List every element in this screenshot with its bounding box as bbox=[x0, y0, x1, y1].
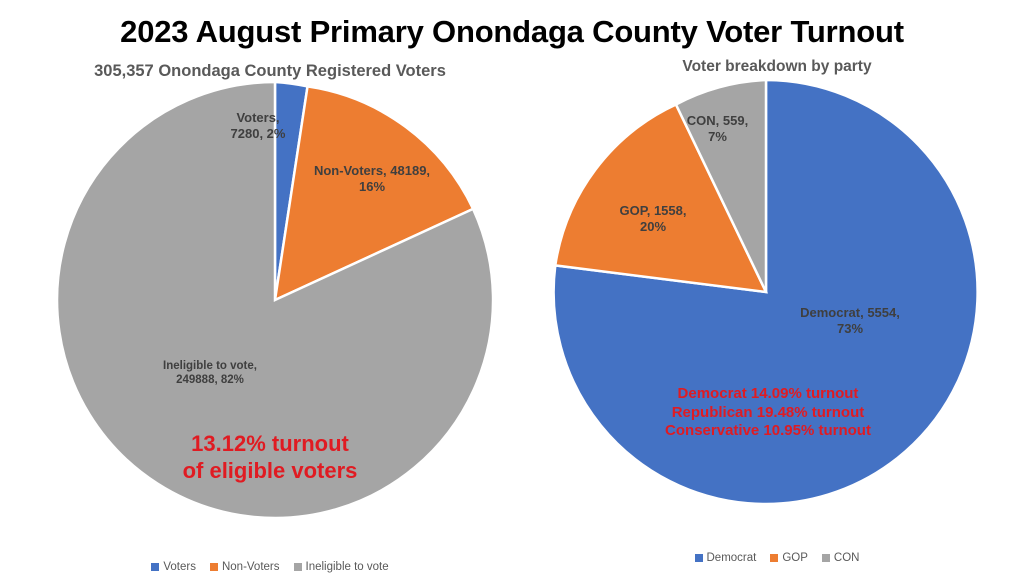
legend-label-gop: GOP bbox=[782, 552, 808, 564]
legend-swatch-democrat-icon bbox=[695, 554, 703, 562]
turnout-callout-left-line2: of eligible voters bbox=[105, 457, 435, 484]
legend-swatch-gop-icon bbox=[770, 554, 778, 562]
legend-item-non-voters[interactable]: Non-Voters bbox=[210, 561, 280, 573]
pie-chart-registered-voters[interactable]: 305,357 Onondaga County Registered Voter… bbox=[10, 55, 530, 576]
legend-label-non-voters: Non-Voters bbox=[222, 561, 280, 573]
pie-slices-voter-breakdown bbox=[530, 55, 1024, 555]
legend-registered-voters: Voters Non-Voters Ineligible to vote bbox=[10, 561, 530, 573]
legend-label-voters: Voters bbox=[163, 561, 196, 573]
turnout-callout-right-line1: Democrat 14.09% turnout bbox=[623, 385, 913, 404]
legend-label-democrat: Democrat bbox=[707, 552, 757, 564]
legend-swatch-ineligible-icon bbox=[294, 563, 302, 571]
legend-item-con[interactable]: CON bbox=[822, 552, 860, 564]
legend-voter-breakdown: Democrat GOP CON bbox=[530, 552, 1024, 564]
turnout-callout-right-line3: Conservative 10.95% turnout bbox=[623, 422, 913, 441]
pie-chart-voter-breakdown[interactable]: Voter breakdown by party CON, 559, 7% GO… bbox=[530, 55, 1024, 576]
slide-canvas: 2023 August Primary Onondaga County Vote… bbox=[0, 0, 1024, 576]
turnout-callout-right: Democrat 14.09% turnout Republican 19.48… bbox=[623, 385, 913, 441]
turnout-callout-right-line2: Republican 19.48% turnout bbox=[623, 404, 913, 423]
page-title: 2023 August Primary Onondaga County Vote… bbox=[0, 14, 1024, 50]
legend-label-ineligible: Ineligible to vote bbox=[306, 561, 389, 573]
turnout-callout-left: 13.12% turnout of eligible voters bbox=[105, 430, 435, 485]
legend-swatch-voters-icon bbox=[151, 563, 159, 571]
legend-item-voters[interactable]: Voters bbox=[151, 561, 196, 573]
turnout-callout-left-line1: 13.12% turnout bbox=[105, 430, 435, 457]
legend-item-ineligible[interactable]: Ineligible to vote bbox=[294, 561, 389, 573]
legend-item-gop[interactable]: GOP bbox=[770, 552, 808, 564]
legend-swatch-con-icon bbox=[822, 554, 830, 562]
legend-swatch-non-voters-icon bbox=[210, 563, 218, 571]
legend-item-democrat[interactable]: Democrat bbox=[695, 552, 757, 564]
legend-label-con: CON bbox=[834, 552, 860, 564]
